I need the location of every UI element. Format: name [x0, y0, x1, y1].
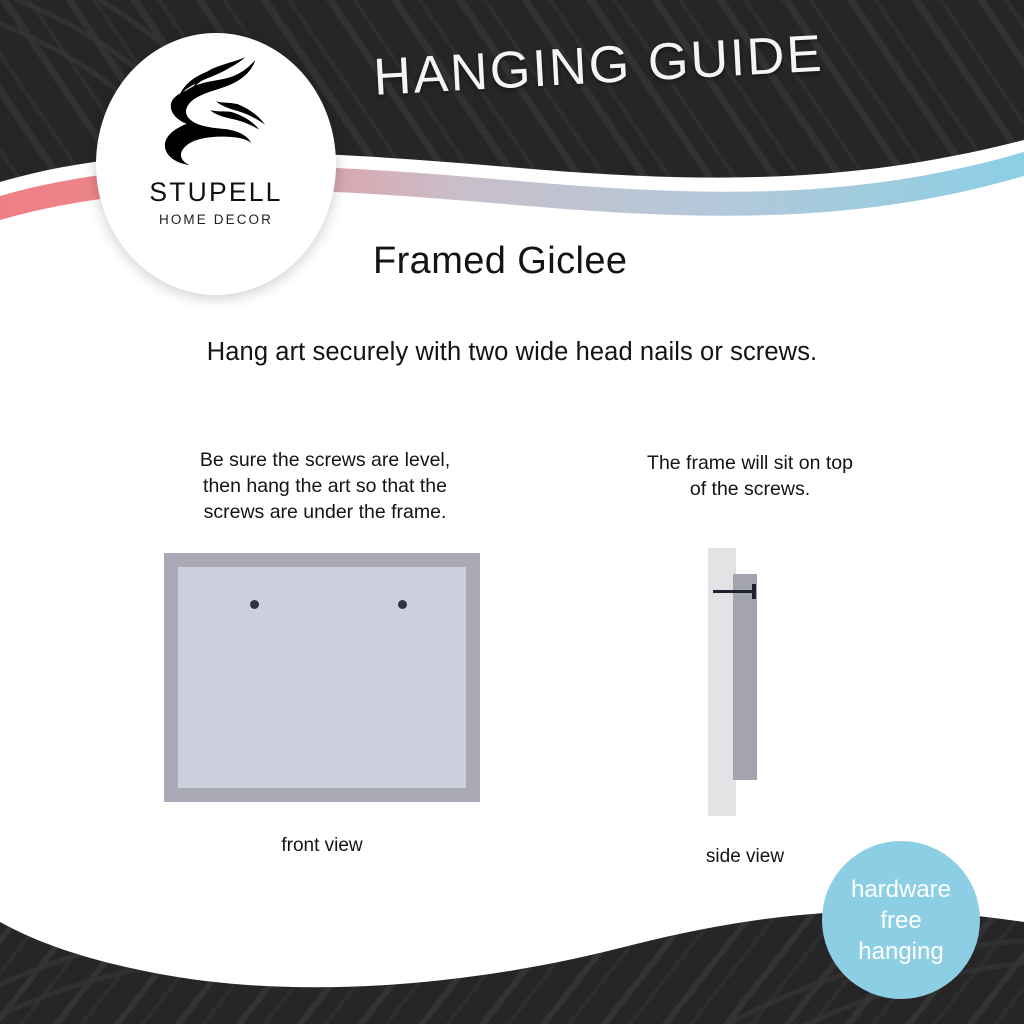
side-view-caption: The frame will sit on top of the screws. — [600, 450, 900, 502]
front-caption-line-3: screws are under the frame. — [160, 499, 490, 525]
hardware-free-hanging-badge: hardware free hanging — [822, 841, 980, 999]
page-title: HANGING GUIDE — [372, 24, 825, 108]
stupell-s-swoosh-icon — [157, 57, 275, 169]
side-view-label: side view — [672, 846, 818, 868]
front-view-caption: Be sure the screws are level, then hang … — [160, 447, 490, 525]
side-view-nail-shaft — [713, 590, 755, 593]
front-view-art-panel — [178, 567, 466, 788]
main-instruction-text: Hang art securely with two wide head nai… — [0, 338, 1024, 367]
badge-line-2: free — [880, 905, 921, 936]
front-caption-line-1: Be sure the screws are level, — [160, 447, 490, 473]
side-view-nail-head — [752, 584, 756, 599]
product-type-label: Framed Giclee — [373, 240, 627, 283]
screw-dot-left — [250, 600, 259, 609]
side-caption-line-1: The frame will sit on top — [600, 450, 900, 476]
stupell-logo-badge: STUPELL HOME DECOR — [96, 33, 336, 295]
side-view-wall — [708, 548, 736, 816]
badge-line-1: hardware — [851, 874, 951, 905]
logo-subwordmark: HOME DECOR — [159, 213, 273, 227]
side-caption-line-2: of the screws. — [600, 476, 900, 502]
side-view-frame — [733, 574, 757, 780]
side-view-diagram — [700, 546, 790, 818]
front-view-label: front view — [164, 835, 480, 857]
front-view-diagram — [164, 553, 480, 802]
badge-line-3: hanging — [858, 936, 943, 967]
screw-dot-right — [398, 600, 407, 609]
logo-wordmark: STUPELL — [149, 179, 282, 206]
front-caption-line-2: then hang the art so that the — [160, 473, 490, 499]
hanging-guide-page: STUPELL HOME DECOR HANGING GUIDE Framed … — [0, 0, 1024, 1024]
